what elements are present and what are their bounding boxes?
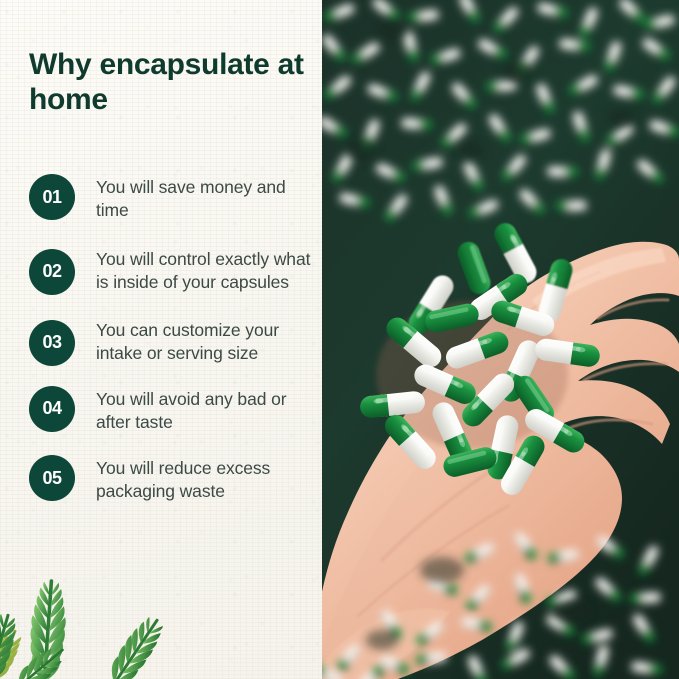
product-photo <box>322 0 679 679</box>
benefit-number-badge: 04 <box>29 386 75 432</box>
benefit-number-badge: 03 <box>29 320 75 366</box>
page-title: Why encapsulate at home <box>29 48 304 118</box>
benefit-text: You will control exactly what is inside … <box>96 247 314 295</box>
benefit-text: You can customize your intake or serving… <box>96 318 314 366</box>
list-item: 02 You will control exactly what is insi… <box>29 247 314 295</box>
list-item: 05 You will reduce excess packaging wast… <box>29 453 314 504</box>
benefit-number-badge: 02 <box>29 249 75 295</box>
benefit-list: 01 You will save money and time 02 You w… <box>29 172 314 504</box>
benefit-number-badge: 05 <box>29 455 75 501</box>
benefit-text: You will save money and time <box>96 172 314 223</box>
text-panel: Why encapsulate at home 01 You will save… <box>0 0 322 679</box>
benefit-text: You will reduce excess packaging waste <box>96 453 314 504</box>
list-item: 01 You will save money and time <box>29 172 314 223</box>
fern-leaves-icon <box>0 565 201 679</box>
benefit-number-badge: 01 <box>29 174 75 220</box>
hand-with-capsules-photo <box>322 0 679 679</box>
benefit-text: You will avoid any bad or after taste <box>96 384 314 435</box>
list-item: 04 You will avoid any bad or after taste <box>29 384 314 435</box>
infographic-poster: Why encapsulate at home 01 You will save… <box>0 0 679 679</box>
list-item: 03 You can customize your intake or serv… <box>29 318 314 366</box>
